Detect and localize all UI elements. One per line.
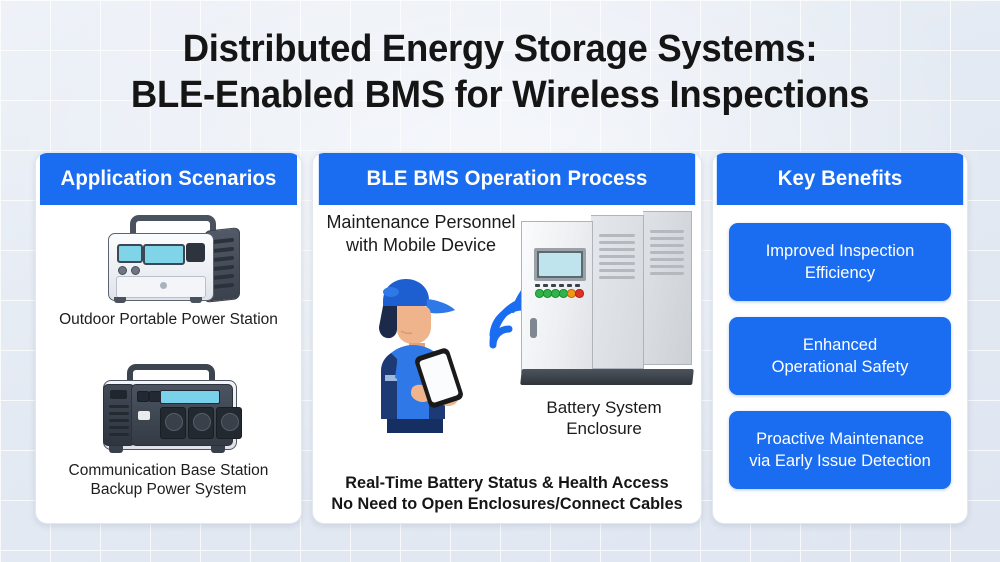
maintenance-personnel-label: Maintenance Personnel with Mobile Device <box>321 211 521 257</box>
scenario-item-outdoor-portable: Outdoor Portable Power Station <box>36 211 301 329</box>
title-line-1: Distributed Energy Storage Systems: <box>183 28 818 70</box>
backup-power-system-icon <box>36 362 301 457</box>
benefit-card-1: Improved Inspection Efficiency <box>729 223 951 301</box>
panel-middle-heading: BLE BMS Operation Process <box>319 153 695 205</box>
title-line-2: BLE-Enabled BMS for Wireless Inspections <box>20 72 980 118</box>
person-label-line-1: Maintenance Personnel <box>321 211 521 234</box>
panel-left-body: Outdoor Portable Power Station <box>36 205 301 523</box>
battery-enclosure-label: Battery System Enclosure <box>509 397 699 439</box>
portable-power-station-icon <box>36 211 301 306</box>
scenario-caption-2-line-2: Backup Power System <box>42 480 295 499</box>
panel-left-heading: Application Scenarios <box>40 153 297 205</box>
footer-line-2: No Need to Open Enclosures/Connect Cable… <box>316 494 698 515</box>
panel-key-benefits: Key Benefits Improved Inspection Efficie… <box>712 152 968 524</box>
benefit-2-line-2: Operational Safety <box>739 356 941 378</box>
maintenance-technician-icon <box>361 267 496 442</box>
benefit-1-line-2: Efficiency <box>739 262 941 284</box>
page-title: Distributed Energy Storage Systems: BLE-… <box>20 26 980 118</box>
footer-line-1: Real-Time Battery Status & Health Access <box>316 473 698 494</box>
infographic-stage: Distributed Energy Storage Systems: BLE-… <box>0 0 1000 562</box>
scenario-caption-1: Outdoor Portable Power Station <box>36 310 301 329</box>
scenario-caption-2: Communication Base Station Backup Power … <box>36 461 301 499</box>
panel-middle-body: Maintenance Personnel with Mobile Device <box>313 205 701 523</box>
benefit-1-line-1: Improved Inspection <box>739 240 941 262</box>
benefit-2-line-1: Enhanced <box>739 334 941 356</box>
benefit-card-2: Enhanced Operational Safety <box>729 317 951 395</box>
panel-right-body: Improved Inspection Efficiency Enhanced … <box>713 205 967 524</box>
panel-right-heading: Key Benefits <box>717 153 963 205</box>
scenario-caption-2-line-1: Communication Base Station <box>42 461 295 480</box>
panel-application-scenarios: Application Scenarios <box>35 152 302 524</box>
person-label-line-2: with Mobile Device <box>321 234 521 257</box>
benefit-3-line-1: Proactive Maintenance <box>739 428 941 450</box>
operation-process-footer: Real-Time Battery Status & Health Access… <box>316 473 698 515</box>
battery-enclosure-cabinet-icon <box>521 211 693 391</box>
benefit-card-3: Proactive Maintenance via Early Issue De… <box>729 411 951 489</box>
benefit-3-line-2: via Early Issue Detection <box>739 450 941 472</box>
panel-ble-bms-operation-process: BLE BMS Operation Process Maintenance Pe… <box>312 152 702 524</box>
enclosure-label-line-1: Battery System <box>509 397 699 418</box>
cabinet-led-indicators <box>535 284 581 300</box>
cabinet-display-icon <box>534 248 586 281</box>
enclosure-label-line-2: Enclosure <box>509 418 699 439</box>
scenario-item-base-station-backup: Communication Base Station Backup Power … <box>36 362 301 499</box>
